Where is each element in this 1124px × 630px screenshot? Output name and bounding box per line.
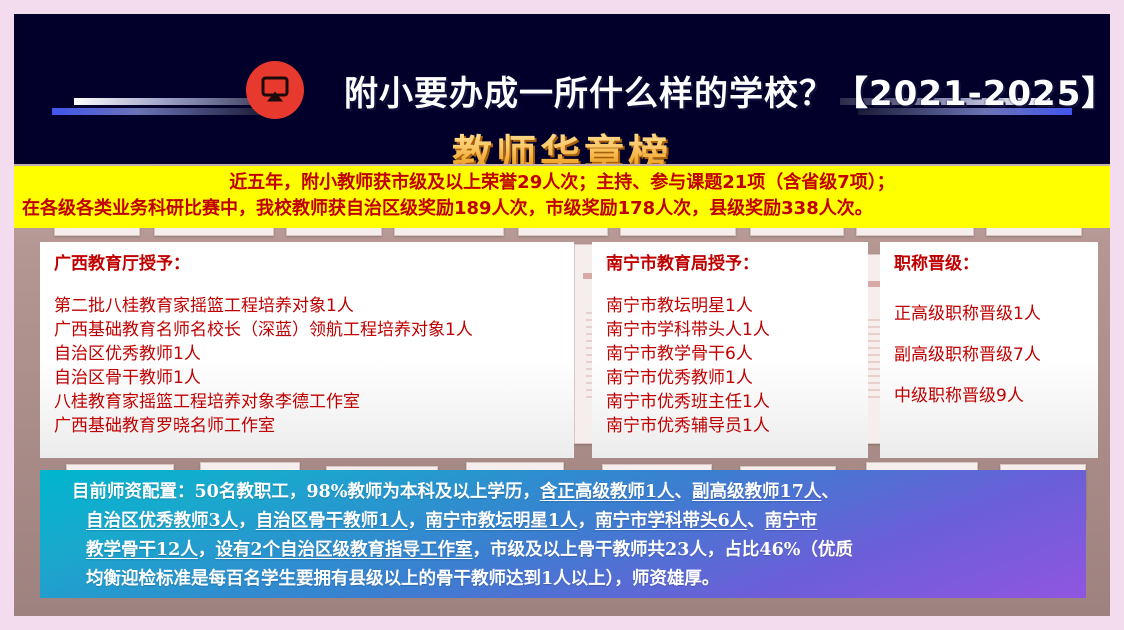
summary-underline: 含正高级教师1人 <box>540 482 675 502</box>
list-item: 南宁市优秀班主任1人 <box>606 390 854 414</box>
summary-text: ， <box>578 511 596 531</box>
panel-title: 广西教育厅授予： <box>54 252 560 276</box>
summary-underline: 副高级教师17人 <box>692 482 821 502</box>
page-title: 附小要办成一所什么样的学校？【2021-2025】 <box>344 64 1044 116</box>
banner-line-2: 在各级各类业务科研比赛中，我校教师获自治区级奖励189人次，市级奖励178人次，… <box>20 196 1104 222</box>
summary-underline: 自治区优秀教师3人 <box>86 511 238 531</box>
list-item: 广西基础教育罗晓名师工作室 <box>54 414 560 438</box>
list-item: 南宁市优秀辅导员1人 <box>606 414 854 438</box>
summary-line-3: 教学骨干12人，设有2个自治区级教育指导工作室，市级及以上骨干教师共23人，占比… <box>58 536 1072 565</box>
summary-text: 、 <box>821 482 839 502</box>
airplay-screen-icon <box>246 61 304 119</box>
panel-divider <box>574 242 592 458</box>
list-item: 第二批八桂教育家摇篮工程培养对象1人 <box>54 294 560 318</box>
summary-text: ， <box>238 511 256 531</box>
summary-line-1: 目前师资配置：50名教职工，98%教师为本科及以上学历，含正高级教师1人、副高级… <box>58 478 1072 507</box>
panel-nanning-education-bureau: 南宁市教育局授予： 南宁市教坛明星1人 南宁市学科带头人1人 南宁市教学骨干6人… <box>592 242 868 458</box>
summary-underline: 南宁市教坛明星1人 <box>425 511 577 531</box>
panel-guangxi-education-department: 广西教育厅授予： 第二批八桂教育家摇篮工程培养对象1人 广西基础教育名师名校长（… <box>40 242 574 458</box>
list-item: 广西基础教育名师名校长（深蓝）领航工程培养对象1人 <box>54 318 560 342</box>
summary-underline: 自治区骨干教师1人 <box>256 511 408 531</box>
slide-outer-frame: 附小要办成一所什么样的学校？【2021-2025】 教师华章榜 <box>0 0 1124 630</box>
faculty-summary-panel: 目前师资配置：50名教职工，98%教师为本科及以上学历，含正高级教师1人、副高级… <box>40 470 1086 598</box>
list-item: 正高级职称晋级1人 <box>894 294 1084 335</box>
list-item: 自治区优秀教师1人 <box>54 342 560 366</box>
summary-text: ， <box>408 511 426 531</box>
summary-text: ，市级及以上骨干教师共23人，占比46%（优质 <box>473 540 853 560</box>
summary-line-4: 均衡迎检标准是每百名学生要拥有县级以上的骨干教师达到1人以上），师资雄厚。 <box>58 565 1072 594</box>
list-item: 八桂教育家摇篮工程培养对象李德工作室 <box>54 390 560 414</box>
list-item: 南宁市优秀教师1人 <box>606 366 854 390</box>
summary-text: ， <box>198 540 216 560</box>
summary-text: 目前师资配置：50名教职工，98%教师为本科及以上学历， <box>72 482 540 502</box>
list-item: 中级职称晋级9人 <box>894 376 1084 417</box>
summary-text: 、 <box>675 482 693 502</box>
panel-title: 职称晋级： <box>894 252 1084 276</box>
header-decoration-left <box>36 98 284 118</box>
panel-title: 南宁市教育局授予： <box>606 252 854 276</box>
summary-text: 、 <box>747 511 765 531</box>
list-item: 南宁市学科带头人1人 <box>606 318 854 342</box>
summary-underline: 教学骨干12人 <box>86 540 198 560</box>
slide: 附小要办成一所什么样的学校？【2021-2025】 教师华章榜 <box>14 14 1110 616</box>
list-item: 南宁市教学骨干6人 <box>606 342 854 366</box>
summary-underline: 设有2个自治区级教育指导工作室 <box>215 540 472 560</box>
panel-divider <box>868 242 880 458</box>
panel-title-promotion: 职称晋级： 正高级职称晋级1人 副高级职称晋级7人 中级职称晋级9人 <box>880 242 1098 458</box>
list-item: 自治区骨干教师1人 <box>54 366 560 390</box>
deco-line-blue-left <box>52 108 266 115</box>
summary-underline: 南宁市 <box>765 511 818 531</box>
list-item: 南宁市教坛明星1人 <box>606 294 854 318</box>
list-item: 副高级职称晋级7人 <box>894 335 1084 376</box>
summary-line-2: 自治区优秀教师3人，自治区骨干教师1人，南宁市教坛明星1人，南宁市学科带头6人、… <box>58 507 1072 536</box>
highlight-banner: 近五年，附小教师获市级及以上荣誉29人次；主持、参与课题21项（含省级7项）； … <box>14 166 1110 228</box>
summary-underline: 南宁市学科带头6人 <box>595 511 747 531</box>
banner-line-1: 近五年，附小教师获市级及以上荣誉29人次；主持、参与课题21项（含省级7项）； <box>20 170 1104 196</box>
awards-panels: 广西教育厅授予： 第二批八桂教育家摇篮工程培养对象1人 广西基础教育名师名校长（… <box>40 242 1098 458</box>
